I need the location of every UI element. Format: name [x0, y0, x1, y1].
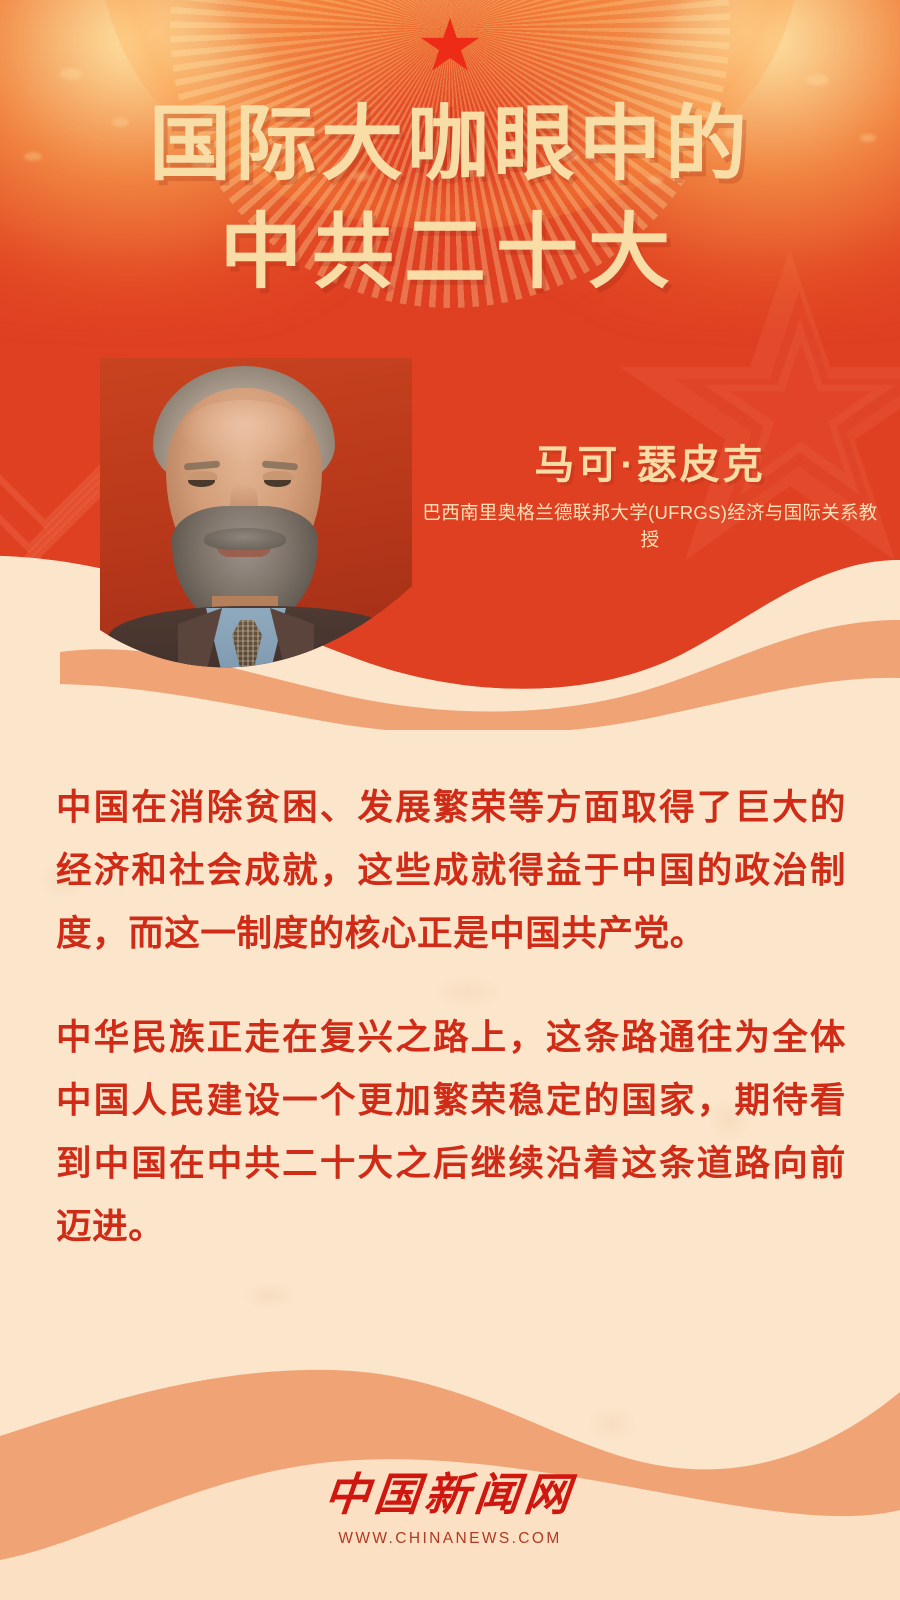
portrait-moustache — [204, 528, 286, 550]
bokeh-dot — [60, 68, 82, 80]
chinanews-logo-text: 中国新闻网 — [322, 1458, 579, 1523]
portrait-eyelid-right — [263, 471, 293, 480]
portrait-eyelid-left — [187, 471, 217, 480]
portrait-forehead-highlight — [180, 400, 308, 462]
chinanews-logo-url: WWW.CHINANEWS.COM — [0, 1530, 900, 1548]
bottom-wave-decoration — [0, 1260, 900, 1600]
title-line-1: 国际大咖眼中的 — [0, 96, 900, 194]
guest-name: 马可·瑟皮克 — [420, 432, 880, 490]
quote-body: 中国在消除贫困、发展繁荣等方面取得了巨大的经济和社会成就，这些成就得益于中国的政… — [56, 776, 846, 1258]
title-line-2: 中共二十大 — [0, 204, 900, 302]
quote-paragraph-2: 中华民族正走在复兴之路上，这条路通往为全体中国人民建设一个更加繁荣稳定的国家，期… — [56, 1006, 846, 1259]
bokeh-dot — [806, 74, 829, 86]
quote-paragraph-1: 中国在消除贫困、发展繁荣等方面取得了巨大的经济和社会成就，这些成就得益于中国的政… — [56, 776, 846, 966]
site-footer: 中国新闻网 WWW.CHINANEWS.COM — [0, 1458, 900, 1548]
guest-title: 巴西南里奥格兰德联邦大学(UFRGS)经济与国际关系教授 — [420, 500, 880, 554]
poster-title: 国际大咖眼中的 中共二十大 — [0, 96, 900, 303]
guest-info-block: 马可·瑟皮克 巴西南里奥格兰德联邦大学(UFRGS)经济与国际关系教授 — [420, 432, 880, 554]
poster-canvas: 国际大咖眼中的 中共二十大 — [0, 0, 900, 1600]
